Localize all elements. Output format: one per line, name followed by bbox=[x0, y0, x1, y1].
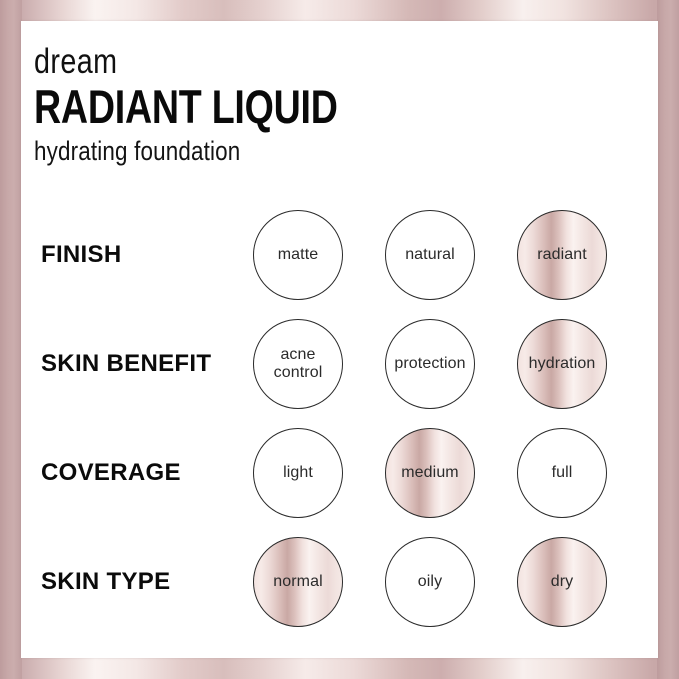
option-bubble-natural[interactable]: natural bbox=[385, 210, 475, 300]
option-label: medium bbox=[397, 464, 463, 482]
row-label-coverage: COVERAGE bbox=[41, 459, 181, 487]
brand-line: dream bbox=[34, 44, 378, 79]
option-bubble-matte[interactable]: matte bbox=[253, 210, 343, 300]
product-subtitle: hydrating foundation bbox=[34, 138, 383, 165]
option-label: full bbox=[548, 464, 577, 482]
option-bubble-dry[interactable]: dry bbox=[517, 537, 607, 627]
option-bubble-radiant[interactable]: radiant bbox=[517, 210, 607, 300]
row-label-skin-benefit: SKIN BENEFIT bbox=[41, 350, 211, 378]
frame-border-bottom bbox=[0, 657, 679, 679]
option-label: dry bbox=[547, 573, 578, 591]
frame-border-left bbox=[0, 0, 22, 679]
page-title: RADIANT LIQUID bbox=[34, 82, 370, 132]
attribute-row-finish: FINISH matte natural radiant bbox=[22, 200, 657, 309]
option-bubble-light[interactable]: light bbox=[253, 428, 343, 518]
content-plate: dream RADIANT LIQUID hydrating foundatio… bbox=[22, 22, 657, 657]
option-label: radiant bbox=[533, 246, 591, 264]
attribute-row-coverage: COVERAGE light medium full bbox=[22, 418, 657, 527]
option-label: light bbox=[279, 464, 317, 482]
option-label: normal bbox=[269, 573, 327, 591]
row-label-finish: FINISH bbox=[41, 241, 121, 269]
option-bubble-protection[interactable]: protection bbox=[385, 319, 475, 409]
option-bubble-oily[interactable]: oily bbox=[385, 537, 475, 627]
option-bubble-hydration[interactable]: hydration bbox=[517, 319, 607, 409]
option-label: hydration bbox=[525, 355, 600, 373]
option-label: matte bbox=[274, 246, 323, 264]
product-title-block: dream RADIANT LIQUID hydrating foundatio… bbox=[34, 44, 454, 165]
option-bubble-medium[interactable]: medium bbox=[385, 428, 475, 518]
option-label: oily bbox=[414, 573, 446, 591]
attribute-row-skin-benefit: SKIN BENEFIT acnecontrol protection hydr… bbox=[22, 309, 657, 418]
product-infographic: dream RADIANT LIQUID hydrating foundatio… bbox=[0, 0, 679, 679]
option-label: natural bbox=[401, 246, 459, 264]
attribute-row-skin-type: SKIN TYPE normal oily dry bbox=[22, 527, 657, 636]
frame-border-top bbox=[0, 0, 679, 22]
option-label: acnecontrol bbox=[270, 346, 327, 382]
option-bubble-full[interactable]: full bbox=[517, 428, 607, 518]
option-bubble-acne-control[interactable]: acnecontrol bbox=[253, 319, 343, 409]
option-label: protection bbox=[390, 355, 469, 373]
frame-border-right bbox=[657, 0, 679, 679]
option-bubble-normal[interactable]: normal bbox=[253, 537, 343, 627]
row-label-skin-type: SKIN TYPE bbox=[41, 568, 170, 596]
attribute-grid: FINISH matte natural radiant SKIN BENEFI… bbox=[22, 200, 657, 636]
